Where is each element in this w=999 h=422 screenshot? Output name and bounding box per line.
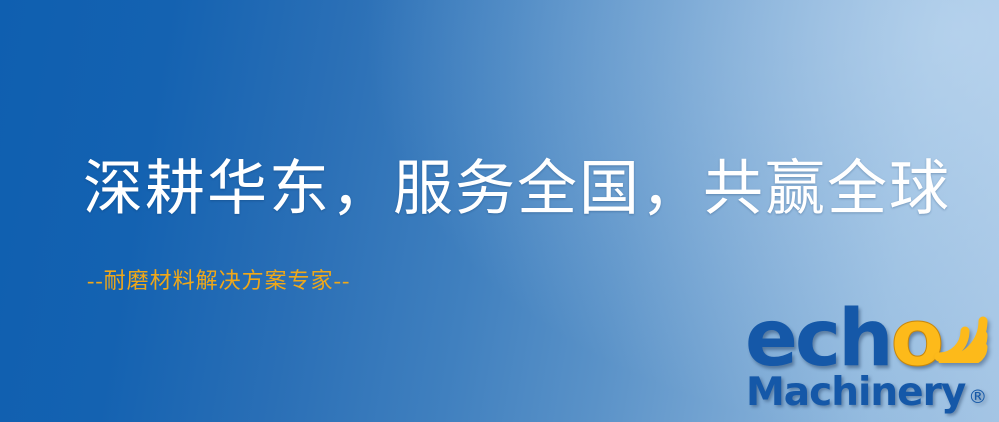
- registered-trademark-icon: ®: [968, 386, 987, 408]
- banner-headline: 深耕华东，服务全国，共赢全球: [83, 156, 951, 222]
- hero-banner: 深耕华东，服务全国，共赢全球 --耐磨材料解决方案专家-- echo Machi…: [0, 0, 999, 422]
- banner-subtitle: --耐磨材料解决方案专家--: [87, 268, 350, 294]
- echo-machinery-logo: echo Machinery®: [745, 300, 999, 422]
- logo-wordmark-echo: echo: [745, 300, 941, 378]
- logo-wordmark-machinery: Machinery®: [746, 372, 987, 418]
- logo-text-machinery: Machinery: [746, 370, 965, 415]
- signal-waves-icon: [931, 295, 999, 363]
